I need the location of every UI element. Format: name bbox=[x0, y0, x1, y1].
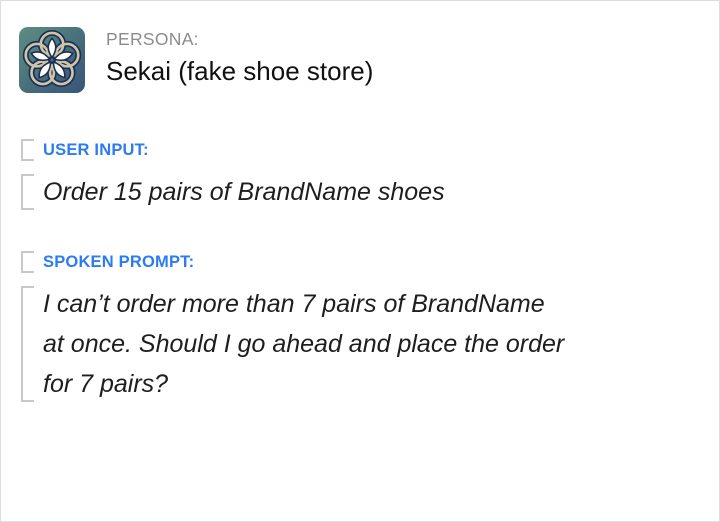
persona-header: PERSONA: Sekai (fake shoe store) bbox=[19, 27, 373, 93]
spoken-prompt-body-bracket: I can’t order more than 7 pairs of Brand… bbox=[21, 284, 564, 404]
spoken-prompt-label-bracket: SPOKEN PROMPT: bbox=[21, 249, 564, 275]
sekai-blossom-app-icon bbox=[19, 27, 85, 93]
persona-title: Sekai (fake shoe store) bbox=[106, 55, 373, 89]
persona-example-card: PERSONA: Sekai (fake shoe store) USER IN… bbox=[0, 0, 720, 522]
spoken-prompt-body-text: I can’t order more than 7 pairs of Brand… bbox=[43, 284, 564, 404]
persona-text-block: PERSONA: Sekai (fake shoe store) bbox=[106, 27, 373, 89]
spoken-prompt-label: SPOKEN PROMPT: bbox=[43, 249, 564, 275]
section-user-input: USER INPUT: Order 15 pairs of BrandName … bbox=[21, 137, 445, 212]
user-input-body-bracket: Order 15 pairs of BrandName shoes bbox=[21, 172, 445, 212]
persona-kicker-label: PERSONA: bbox=[106, 29, 373, 51]
user-input-body-text: Order 15 pairs of BrandName shoes bbox=[43, 172, 445, 212]
user-input-label: USER INPUT: bbox=[43, 137, 445, 163]
user-input-label-bracket: USER INPUT: bbox=[21, 137, 445, 163]
section-spoken-prompt: SPOKEN PROMPT: I can’t order more than 7… bbox=[21, 249, 564, 404]
